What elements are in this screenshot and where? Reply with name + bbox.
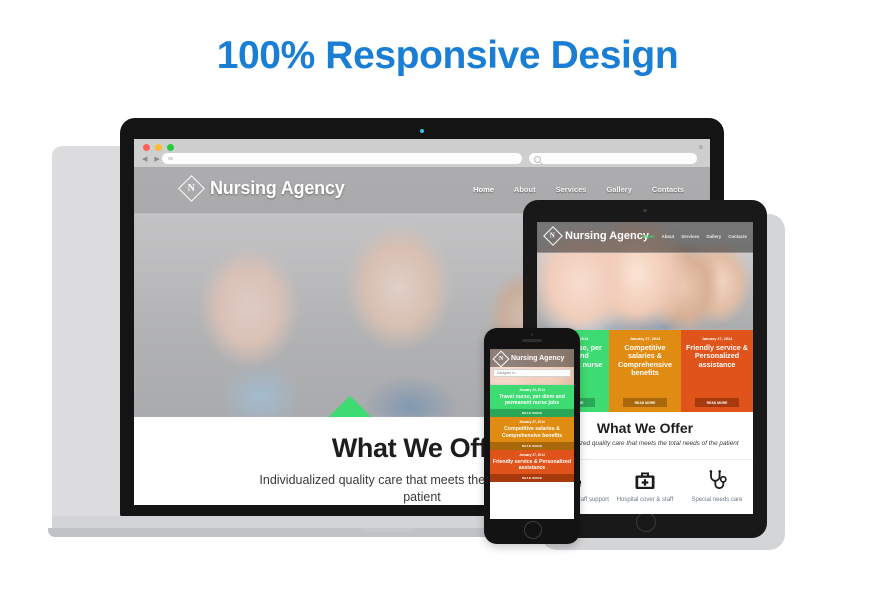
card-date: January 27, 2014 <box>492 420 572 424</box>
tablet-site-header: N Nursing Agency Home About Services Gal… <box>537 222 753 253</box>
expand-icon[interactable]: ⧈ <box>699 144 703 152</box>
diamond-logo-icon: N <box>543 226 563 246</box>
tablet-main-nav: Home About Services Gallery Contacts <box>642 234 747 239</box>
tablet-card-orange[interactable]: January 27, 2014 Competitive salaries & … <box>609 330 681 412</box>
search-icon <box>534 156 541 163</box>
traffic-lights <box>143 144 174 151</box>
laptop-notch <box>362 528 414 532</box>
card-date: January 27, 2014 <box>612 337 678 341</box>
card-title: Competitive salaries & Comprehensive ben… <box>492 426 572 441</box>
phone-speaker <box>522 339 542 342</box>
read-more-button[interactable]: READ MORE <box>490 442 574 450</box>
feature-label: Special needs care <box>681 497 753 505</box>
read-more-button[interactable]: READ MORE <box>490 474 574 482</box>
read-more-button[interactable]: READ MORE <box>490 409 574 417</box>
phone-card-green[interactable]: January 22, 2014 Travel nurse, per diem … <box>490 385 574 409</box>
tablet-camera-icon <box>643 209 646 212</box>
logo-letter: N <box>188 183 195 193</box>
phone-site-header: N Nursing Agency <box>490 349 574 367</box>
nav-item-gallery[interactable]: Gallery <box>706 234 721 239</box>
phone-home-button[interactable] <box>524 521 542 539</box>
nav-item-contacts[interactable]: Contacts <box>652 185 684 194</box>
feature-item[interactable]: Hospital cover & staff <box>609 468 681 505</box>
responsive-showcase: 100% Responsive Design ◀ ▶ <box>0 0 895 599</box>
main-nav: Home About Services Gallery Contacts <box>473 185 684 194</box>
card-title: Competitive salaries & Comprehensive ben… <box>612 344 678 378</box>
card-date: January 27, 2014 <box>684 337 750 341</box>
phone-device: N Nursing Agency Navigate to... January … <box>484 328 580 544</box>
feature-item[interactable]: Special needs care <box>681 468 753 505</box>
tablet-home-button[interactable] <box>636 512 656 532</box>
read-more-button[interactable]: READ MORE <box>623 398 667 407</box>
phone-camera-icon <box>531 333 534 336</box>
phone-site-logo[interactable]: N Nursing Agency <box>495 353 564 365</box>
tablet-hero: N Nursing Agency Home About Services Gal… <box>537 222 753 330</box>
brand-name: Nursing Agency <box>210 178 345 199</box>
nav-item-services[interactable]: Services <box>556 185 587 194</box>
card-title: Friendly service & Personalized assistan… <box>492 459 572 474</box>
zoom-window-icon[interactable] <box>167 144 174 151</box>
nav-item-home[interactable]: Home <box>642 234 654 239</box>
nav-item-gallery[interactable]: Gallery <box>606 185 631 194</box>
diamond-logo-icon: N <box>493 350 510 367</box>
logo-letter: N <box>550 233 555 240</box>
site-logo[interactable]: N Nursing Agency <box>182 178 345 199</box>
tablet-card-red[interactable]: January 27, 2014 Friendly service & Pers… <box>681 330 753 412</box>
close-window-icon[interactable] <box>143 144 150 151</box>
card-date: January 22, 2014 <box>492 388 572 392</box>
read-more-button[interactable]: READ MORE <box>695 398 739 407</box>
nav-item-contacts[interactable]: Contacts <box>728 234 747 239</box>
phone-body: N Nursing Agency Navigate to... January … <box>484 328 580 544</box>
phone-screen: N Nursing Agency Navigate to... January … <box>490 349 574 519</box>
nav-item-about[interactable]: About <box>514 185 536 194</box>
browser-nav-arrows: ◀ ▶ <box>142 155 160 163</box>
forward-arrow-icon[interactable]: ▶ <box>154 155 159 163</box>
browser-search-input[interactable] <box>529 153 697 164</box>
brand-name: Nursing Agency <box>511 355 564 362</box>
phone-hero: N Nursing Agency Navigate to... <box>490 349 574 385</box>
phone-card-orange[interactable]: January 27, 2014 Competitive salaries & … <box>490 417 574 441</box>
card-date: January 27, 2014 <box>492 453 572 457</box>
tablet-site-logo[interactable]: N Nursing Agency <box>546 229 649 243</box>
feature-label: Hospital cover & staff <box>609 497 681 505</box>
diamond-logo-icon: N <box>178 175 205 202</box>
nav-item-about[interactable]: About <box>662 234 675 239</box>
phone-card-red[interactable]: January 27, 2014 Friendly service & Pers… <box>490 450 574 474</box>
card-title: Travel nurse, per diem and permanent nur… <box>492 394 572 409</box>
laptop-camera-icon <box>420 129 424 133</box>
page-title: 100% Responsive Design <box>0 34 895 78</box>
url-input[interactable] <box>162 153 522 164</box>
minimize-window-icon[interactable] <box>155 144 162 151</box>
nav-item-services[interactable]: Services <box>681 234 699 239</box>
stethoscope-icon <box>681 468 753 494</box>
browser-chrome: ◀ ▶ ⧈ <box>134 139 710 167</box>
brand-name: Nursing Agency <box>565 230 649 242</box>
medical-kit-icon <box>609 468 681 494</box>
back-arrow-icon[interactable]: ◀ <box>142 155 147 163</box>
logo-letter: N <box>499 356 503 362</box>
mobile-nav-select[interactable]: Navigate to... <box>493 369 571 377</box>
card-title: Friendly service & Personalized assistan… <box>684 344 750 369</box>
nav-item-home[interactable]: Home <box>473 185 494 194</box>
